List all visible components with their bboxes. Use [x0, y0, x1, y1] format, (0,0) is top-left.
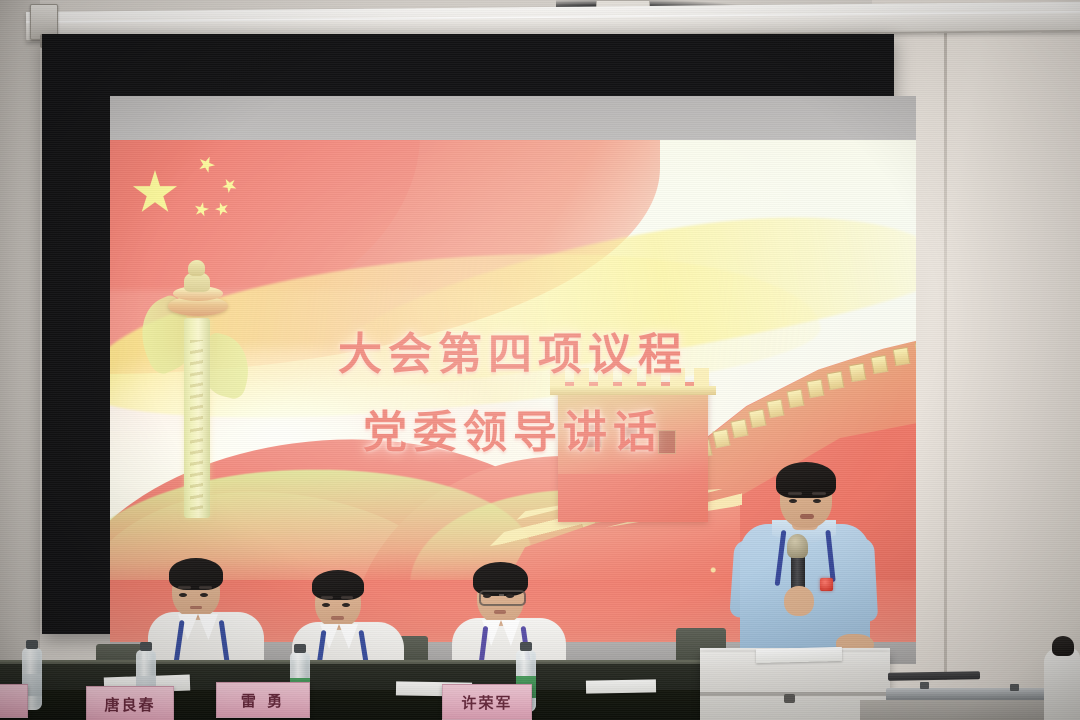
podium-speech-papers [756, 647, 842, 663]
speaker-hand-holding-mic [784, 586, 814, 616]
person-2-mouth [331, 616, 344, 620]
person-1-brow-right [199, 586, 212, 589]
bottle-cap-1 [26, 640, 38, 649]
slide-title-line-2: 党委领导讲话 [110, 396, 916, 460]
nameplate-partial-left [0, 684, 28, 718]
person-3-eye-right [506, 594, 514, 598]
person-1-eye-right [200, 593, 208, 597]
podium-knob [784, 694, 795, 703]
person-3-glasses-bridge [499, 594, 504, 596]
person-1-eye-left [179, 593, 187, 597]
speaker-hair [776, 462, 836, 498]
bottle-cap-4 [520, 642, 532, 651]
person-1-hair [169, 558, 223, 590]
nameplate-seat-1: 唐良春 [86, 686, 174, 720]
speaker-brow-right [812, 492, 826, 495]
speaker-brow-left [788, 492, 802, 495]
huabiao-hou-statue-icon [188, 260, 205, 276]
slide-title-line-1: 大会第四项议程 [110, 318, 916, 382]
person-3-glasses-icon [479, 590, 526, 606]
photo-scene: 大会第四项议程 党委领导讲话 [0, 0, 1080, 720]
person-2-eye-right [342, 603, 350, 607]
person-3-mouth [494, 610, 506, 614]
nameplate-seat-3: 许荣军 [442, 684, 532, 720]
person-2-hair [312, 570, 364, 600]
background-attendee [1044, 648, 1080, 720]
rail-clip-1 [920, 682, 929, 689]
speaker-eye-right [813, 499, 821, 503]
wall-seam-line [944, 8, 947, 680]
speaker-eye-left [789, 499, 797, 503]
rail-clip-2 [1010, 684, 1019, 691]
background-attendee-head [1052, 636, 1074, 656]
slide-title-block: 大会第四项议程 党委领导讲话 [110, 318, 916, 460]
bottle-cap-3 [294, 644, 306, 653]
left-wall-edge [0, 0, 40, 700]
speaker-party-badge [820, 578, 833, 591]
person-1-brow-left [178, 586, 191, 589]
person-2-brow-right [341, 596, 353, 599]
person-2-brow-left [321, 596, 333, 599]
podium-lower-edge [700, 692, 890, 696]
person-3-eye-left [483, 594, 491, 598]
wall-cable-track [888, 671, 980, 681]
microphone-head-icon [787, 534, 808, 558]
bottle-cap-2 [140, 642, 152, 651]
table-documents-3 [586, 679, 656, 693]
speaker-mouth [800, 514, 814, 519]
person-2-eye-left [322, 603, 330, 607]
nameplate-seat-2: 雷 勇 [216, 682, 310, 718]
person-1-mouth [190, 606, 202, 609]
